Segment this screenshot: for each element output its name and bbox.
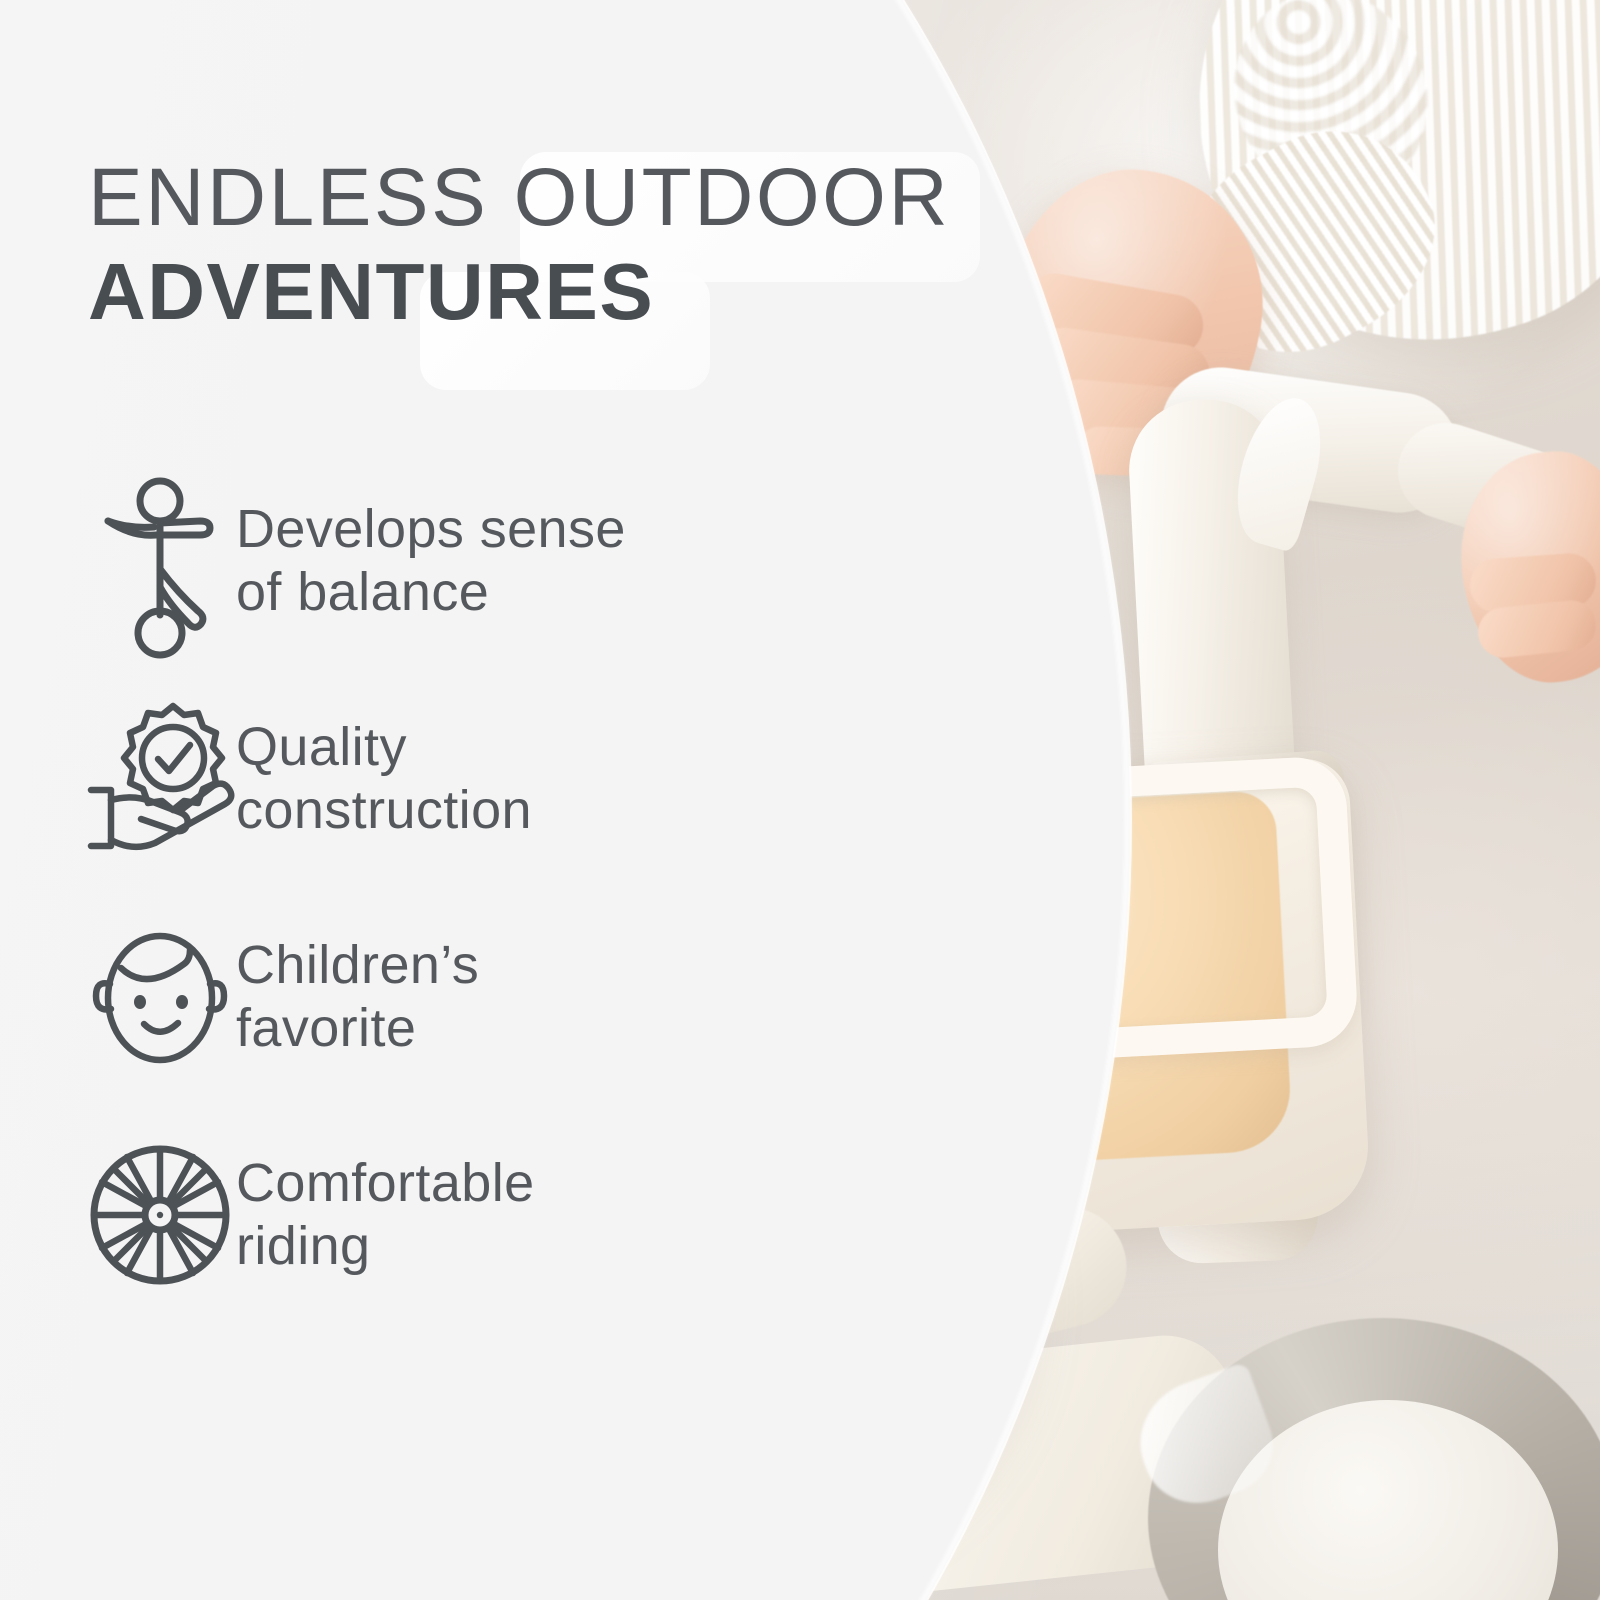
balance-figure-icon: [84, 475, 236, 647]
page-title: ENDLESS OUTDOOR ADVENTURES: [88, 150, 1088, 338]
baby-face-icon: [84, 922, 236, 1072]
feature-label: Children’s favorite: [236, 934, 479, 1060]
feature-item-balance: Develops sense of balance: [84, 452, 784, 670]
feature-label: Comfortable riding: [236, 1152, 535, 1278]
feature-label: Develops sense of balance: [236, 498, 626, 624]
feature-item-quality: Quality construction: [84, 670, 784, 888]
feature-item-children-favorite: Children’s favorite: [84, 888, 784, 1106]
marketing-image: kidi k ENDLESS OUTDOOR ADVENTURES: [0, 0, 1600, 1600]
headline-line-1: ENDLESS OUTDOOR: [88, 150, 1088, 246]
feature-item-comfortable-riding: Comfortable riding: [84, 1106, 784, 1324]
spoked-wheel-icon: [84, 1142, 236, 1288]
feature-list: Develops sense of balance Quality constr…: [84, 452, 784, 1324]
quality-badge-hand-icon: [84, 700, 236, 858]
feature-label: Quality construction: [236, 716, 532, 842]
headline-line-2: ADVENTURES: [88, 246, 1088, 338]
